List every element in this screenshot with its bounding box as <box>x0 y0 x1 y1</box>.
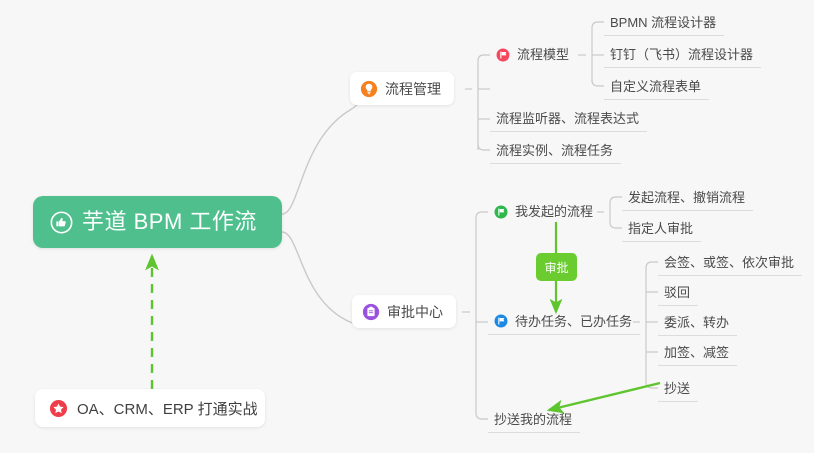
clipboard-icon <box>362 303 380 321</box>
leaf-label: 流程监听器、流程表达式 <box>496 112 639 125</box>
link-root-to-approval-center <box>282 232 361 323</box>
leaf-node-process-listener[interactable]: 流程监听器、流程表达式 <box>490 105 647 132</box>
node-todo-done-tasks[interactable]: 待办任务、已办任务 <box>488 308 640 335</box>
mindmap-canvas: 芋道 BPM 工作流 流程管理 流程模型 BPMN 流程设计器 钉钉（飞书 <box>0 0 814 453</box>
link-model-corner-top <box>592 22 604 28</box>
leaf-label: 会签、或签、依次审批 <box>664 256 794 269</box>
root-node[interactable]: 芋道 BPM 工作流 <box>33 196 282 248</box>
leaf-label: 抄送 <box>664 382 690 395</box>
node-my-initiated-processes[interactable]: 我发起的流程 <box>488 198 601 225</box>
link-pm-corner-top <box>478 55 490 61</box>
leaf-node-delegate-transfer[interactable]: 委派、转办 <box>658 309 737 336</box>
callout-node-integration[interactable]: OA、CRM、ERP 打通实战 <box>35 389 265 427</box>
leaf-label: 钉钉（飞书）流程设计器 <box>610 48 753 61</box>
leaf-node-countersign[interactable]: 会签、或签、依次审批 <box>658 249 802 276</box>
callout-label: OA、CRM、ERP 打通实战 <box>77 398 258 419</box>
flag-icon <box>496 48 510 62</box>
leaf-node-start-cancel-process[interactable]: 发起流程、撤销流程 <box>622 184 753 211</box>
branch-label-approval-center: 审批中心 <box>387 302 443 322</box>
leaf-label: 加签、减签 <box>664 346 729 359</box>
branch-label-process-management: 流程管理 <box>385 79 441 99</box>
branch-node-process-management[interactable]: 流程管理 <box>350 72 454 105</box>
link-root-to-process-management <box>282 89 361 214</box>
leaf-label: 委派、转办 <box>664 316 729 329</box>
branch-node-approval-center[interactable]: 审批中心 <box>352 295 456 328</box>
node-process-model[interactable]: 流程模型 <box>490 41 577 68</box>
thumbs-up-icon <box>50 211 73 234</box>
star-icon <box>49 399 68 418</box>
leaf-node-add-remove-sign[interactable]: 加签、减签 <box>658 339 737 366</box>
leaf-node-designated-approver[interactable]: 指定人审批 <box>622 215 701 242</box>
link-mine-corner-bottom <box>610 222 622 228</box>
leaf-label: 发起流程、撤销流程 <box>628 191 745 204</box>
annotation-tag-approval: 审批 <box>536 253 577 281</box>
label-process-model: 流程模型 <box>517 48 569 61</box>
lightbulb-icon <box>360 80 378 98</box>
leaf-label: 驳回 <box>664 286 690 299</box>
leaf-label: 指定人审批 <box>628 222 693 235</box>
link-model-corner-bottom <box>592 80 604 86</box>
link-todo-corner-top <box>646 262 658 268</box>
leaf-label: 流程实例、流程任务 <box>496 144 613 157</box>
annotation-tag-label: 审批 <box>544 259 568 276</box>
flag-icon <box>494 205 508 219</box>
leaf-node-dingtalk-designer[interactable]: 钉钉（飞书）流程设计器 <box>604 41 761 68</box>
leaf-label: BPMN 流程设计器 <box>610 16 716 29</box>
leaf-node-reject[interactable]: 驳回 <box>658 279 698 306</box>
root-label: 芋道 BPM 工作流 <box>82 211 257 233</box>
leaf-node-process-instance[interactable]: 流程实例、流程任务 <box>490 137 621 164</box>
link-pm-corner-bottom <box>478 144 490 150</box>
leaf-label: 抄送我的流程 <box>494 413 572 426</box>
flag-icon <box>494 314 508 328</box>
leaf-node-cc-to-me[interactable]: 抄送我的流程 <box>488 406 580 433</box>
label-todo-done-tasks: 待办任务、已办任务 <box>515 315 632 328</box>
leaf-node-bpmn-designer[interactable]: BPMN 流程设计器 <box>604 9 724 36</box>
label-my-initiated-processes: 我发起的流程 <box>515 205 593 218</box>
link-ac-corner-top <box>476 212 488 218</box>
leaf-node-custom-form[interactable]: 自定义流程表单 <box>604 73 709 100</box>
leaf-label: 自定义流程表单 <box>610 80 701 93</box>
link-todo-corner-bottom <box>646 382 658 388</box>
leaf-node-cc[interactable]: 抄送 <box>658 375 698 402</box>
link-mine-corner-top <box>610 197 622 203</box>
link-ac-corner-bottom <box>476 413 488 419</box>
